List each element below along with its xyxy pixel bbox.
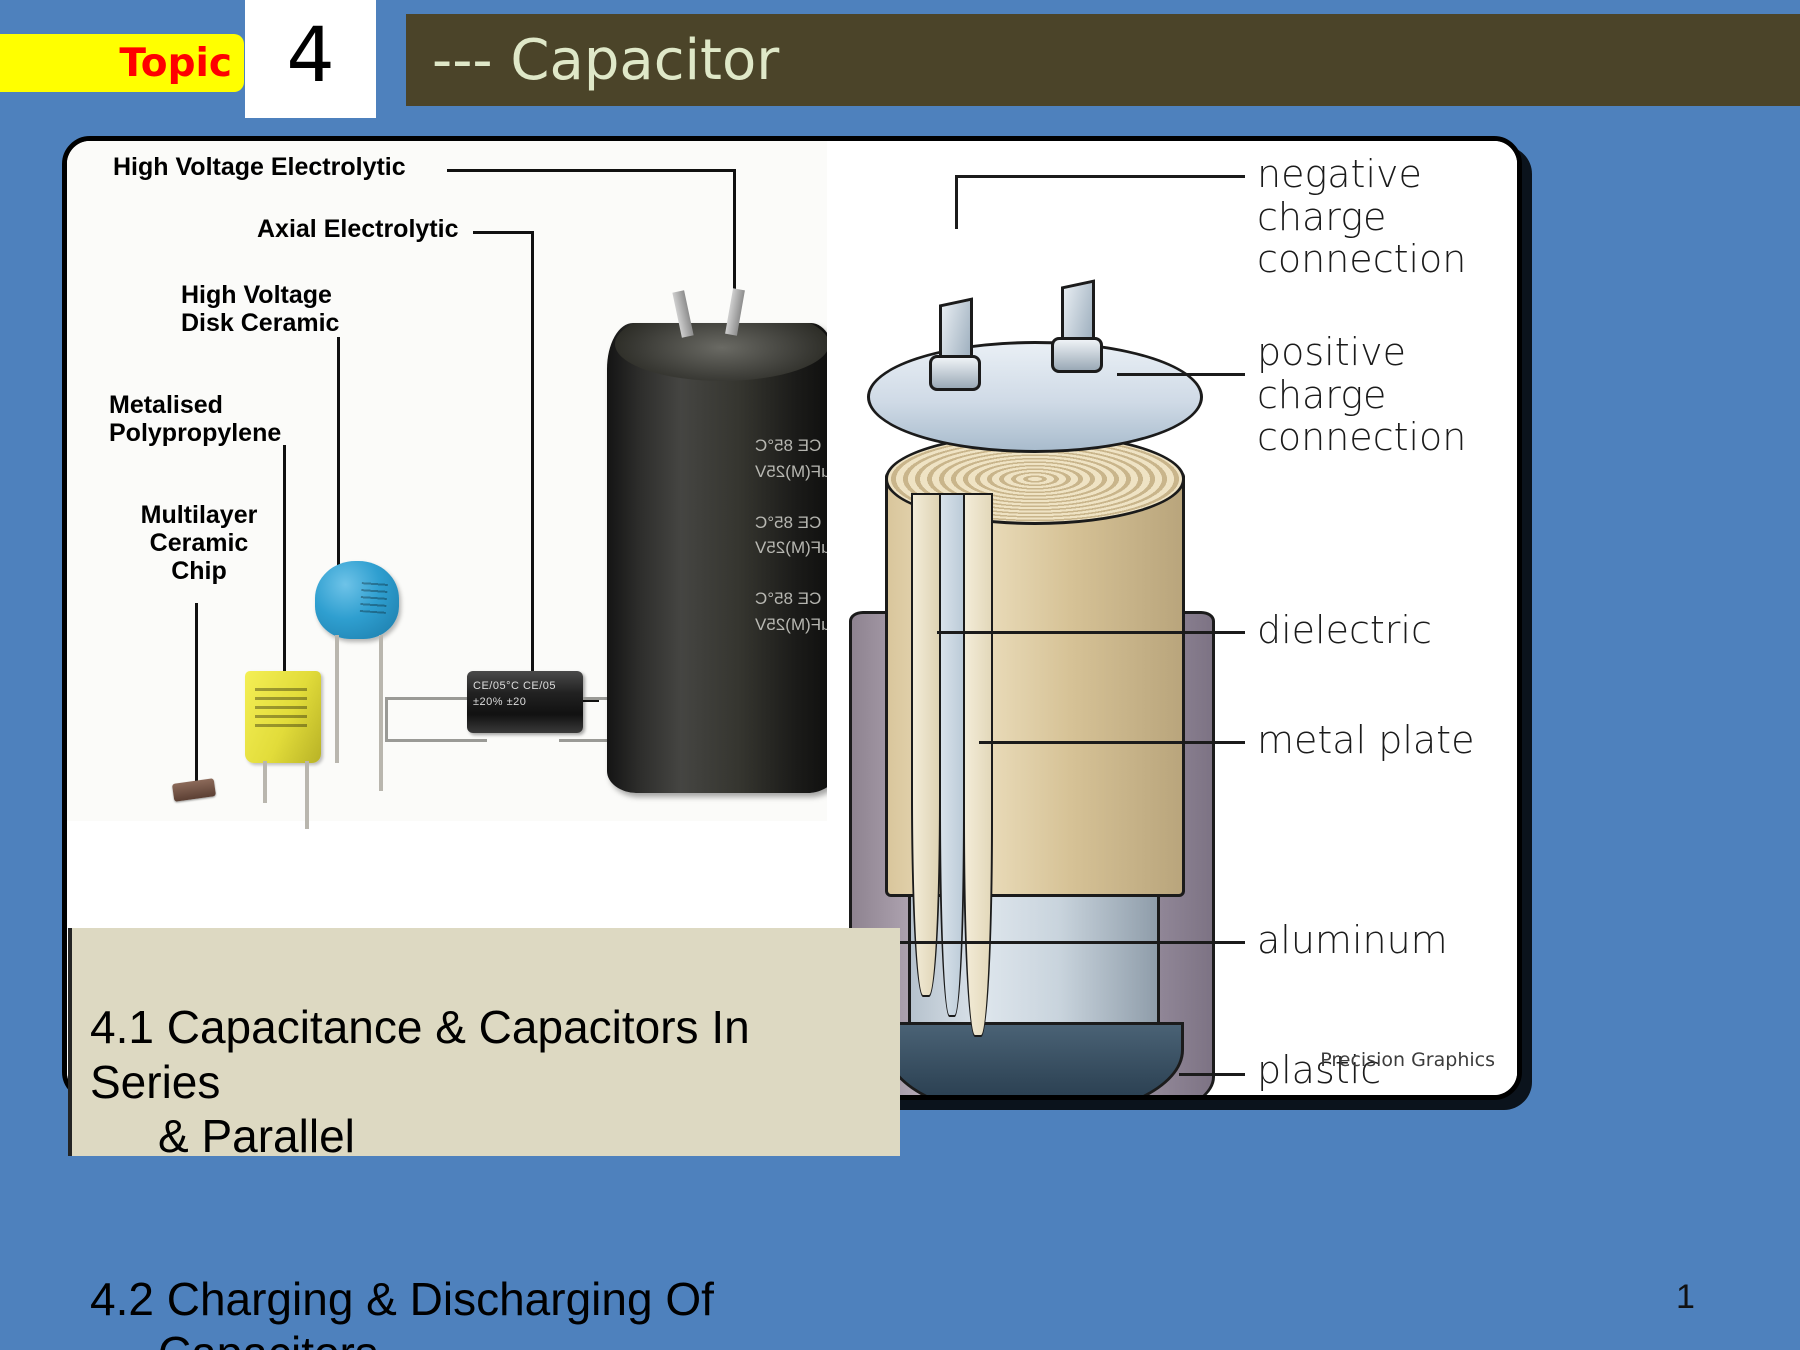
page-number: 1 xyxy=(1676,1278,1695,1317)
label-axial-electrolytic: Axial Electrolytic xyxy=(257,215,458,243)
title-bar: --- Capacitor xyxy=(406,14,1800,106)
leader-high-voltage-electrolytic xyxy=(447,169,735,172)
graphics-credit: Precision Graphics xyxy=(1320,1049,1495,1071)
film-lead-left xyxy=(263,761,267,803)
cutaway-diagram-panel: negative charge connection positive char… xyxy=(827,141,1517,1085)
high-voltage-electrolytic-part: CE 85°C uF(M)25V CE 85°C uF(M)25V CE 85°… xyxy=(607,323,837,793)
leader-metal-plate xyxy=(979,741,1245,744)
axial-print: CE/05°C CE/05 ±20% ±20 xyxy=(473,679,556,711)
multilayer-chip-part xyxy=(172,778,216,802)
axial-wire-left-drop xyxy=(385,697,388,741)
outline-item-4-1-line2: & Parallel xyxy=(90,1109,890,1163)
label-metalised-polypropylene: Metalised Polypropylene xyxy=(109,391,281,447)
leader-disk-ceramic xyxy=(337,337,340,597)
topic-label: Topic xyxy=(119,41,232,86)
foil-layer-2 xyxy=(939,493,965,1017)
label-positive-charge-connection: positive charge connection xyxy=(1257,331,1466,459)
outline-item-4-1-line1: 4.1 Capacitance & Capacitors In Series xyxy=(90,1001,750,1107)
hv-body-print: CE 85°C uF(M)25V CE 85°C uF(M)25V CE 85°… xyxy=(755,433,831,637)
metalised-polypropylene-part xyxy=(245,671,321,763)
slide-canvas: Topic 4 --- Capacitor High Voltage Elect… xyxy=(0,0,1800,1350)
axial-wire-left-return xyxy=(385,739,487,742)
page-title: --- Capacitor xyxy=(406,28,779,93)
hv-top-cap xyxy=(615,323,829,381)
leader-negative-charge xyxy=(955,175,1245,178)
label-high-voltage-electrolytic: High Voltage Electrolytic xyxy=(113,153,406,181)
capacitor-photo-panel: High Voltage Electrolytic Axial Electrol… xyxy=(67,141,842,821)
foil-layer-3 xyxy=(963,493,993,1037)
leader-positive-charge xyxy=(1117,373,1245,376)
leader-dielectric xyxy=(937,631,1245,634)
outline-item-4-2-line2: Capacitors xyxy=(90,1326,890,1350)
label-dielectric: dielectric xyxy=(1257,609,1432,652)
label-negative-charge-connection: negative charge connection xyxy=(1257,153,1466,281)
label-aluminum: aluminum xyxy=(1257,919,1448,962)
axial-electrolytic-part: CE/05°C CE/05 ±20% ±20 xyxy=(467,671,583,733)
outline-item-4-2-line1: 4.2 Charging & Discharging Of xyxy=(90,1273,714,1325)
negative-terminal-base xyxy=(929,355,981,391)
label-metal-plate: metal plate xyxy=(1257,719,1474,762)
shell-base xyxy=(886,1022,1184,1100)
leader-axial-electrolytic xyxy=(473,231,533,234)
disk-lead-left xyxy=(335,635,339,763)
leader-axial-electrolytic-drop xyxy=(531,231,534,701)
positive-terminal-base xyxy=(1051,337,1103,373)
film-lead-right xyxy=(305,761,309,829)
label-multilayer-ceramic-chip: Multilayer Ceramic Chip xyxy=(129,501,269,585)
leader-negative-charge-riser xyxy=(955,175,958,229)
topic-number-box: 4 xyxy=(245,0,376,118)
topic-outline-box: 4.1 Capacitance & Capacitors In Series &… xyxy=(68,928,900,1156)
leader-multilayer-chip xyxy=(195,603,198,783)
label-high-voltage-disk-ceramic: High Voltage Disk Ceramic xyxy=(181,281,339,337)
top-lid-part xyxy=(867,341,1203,453)
outline-item-4-2: 4.2 Charging & Discharging Of Capacitors xyxy=(90,1217,890,1350)
disk-ceramic-part xyxy=(315,561,399,639)
leader-plastic-insulation xyxy=(1179,1073,1245,1076)
topic-number: 4 xyxy=(286,17,334,101)
outline-item-4-1: 4.1 Capacitance & Capacitors In Series &… xyxy=(90,946,890,1217)
foil-layer-1 xyxy=(911,493,941,997)
topic-banner: Topic xyxy=(0,34,244,92)
disk-lead-right xyxy=(379,635,383,791)
